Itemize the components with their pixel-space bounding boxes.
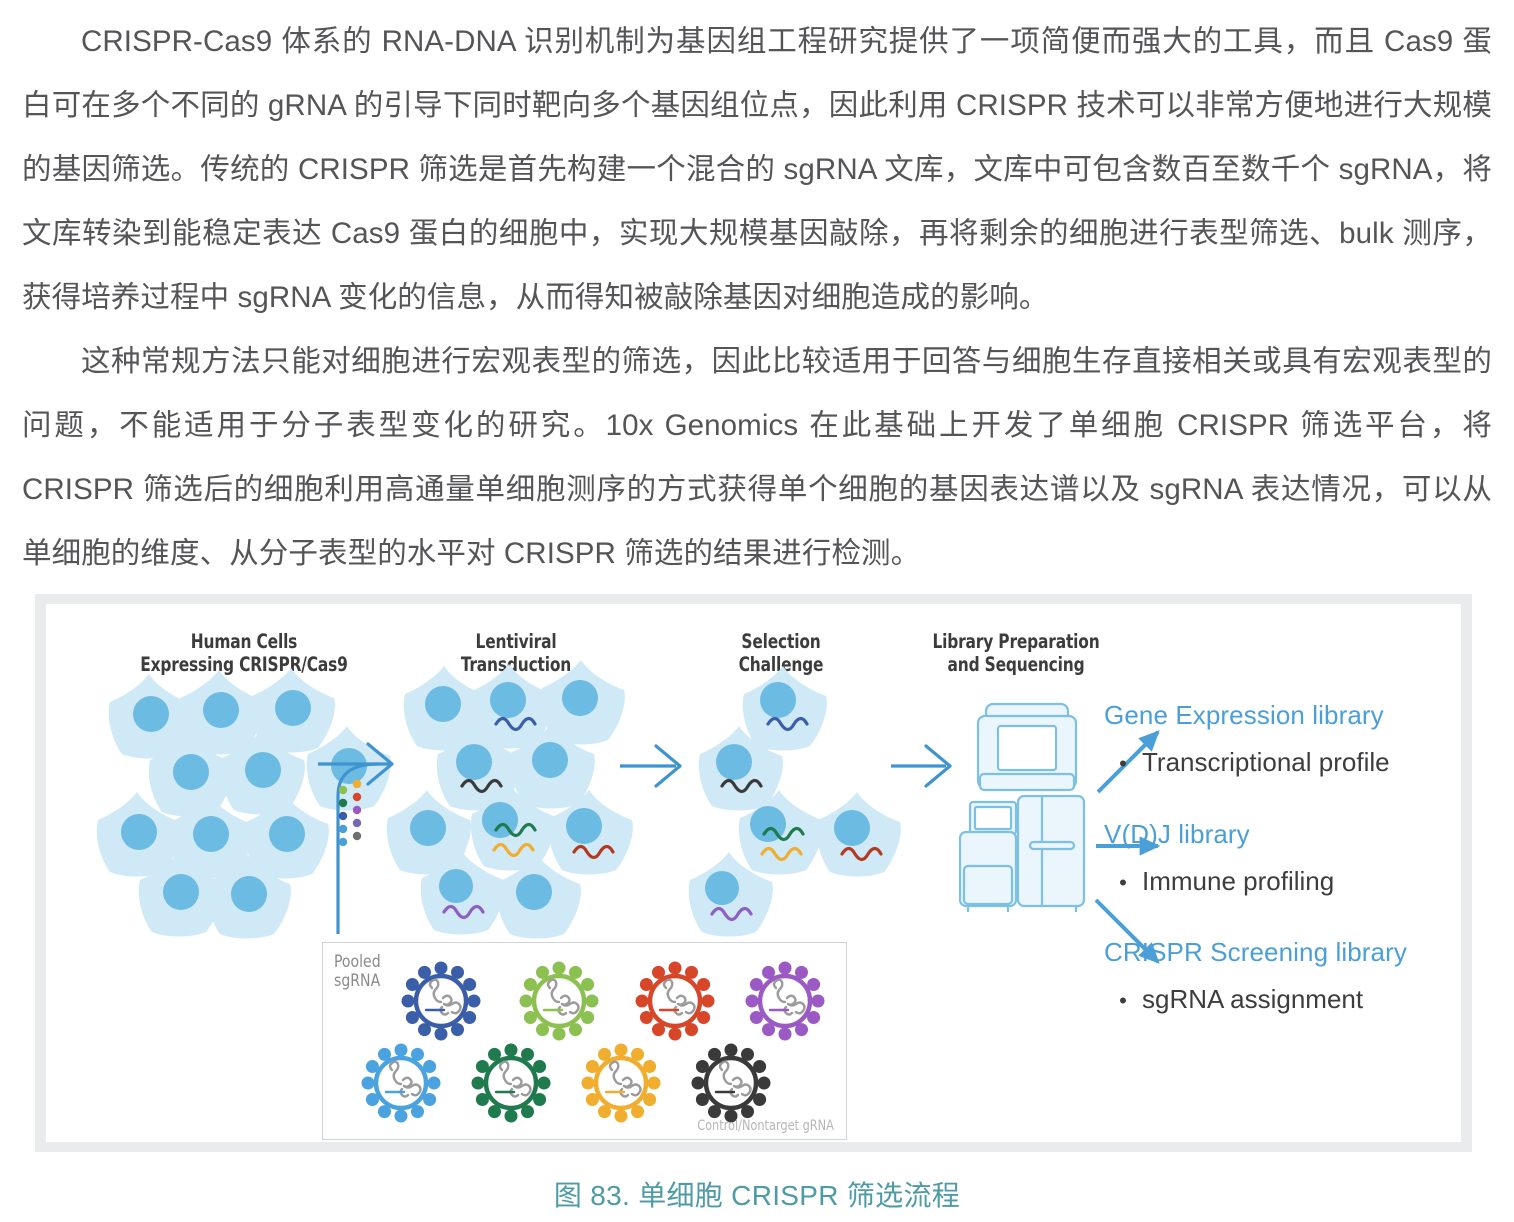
arrow-transduction (620, 746, 680, 786)
library-title-gene-expression: Gene Expression library (1104, 700, 1390, 731)
arrow-library-prep (891, 746, 950, 786)
library-sub-crispr-screening: sgRNA assignment (1142, 984, 1363, 1015)
library-bullet-row-crispr-screening: • sgRNA assignment (1104, 984, 1407, 1015)
library-title-crispr-screening: CRISPR Screening library (1104, 937, 1407, 968)
cell-group-lentiviral (387, 660, 633, 939)
virion-grid (323, 943, 848, 1141)
article-body: CRISPR-Cas9 体系的 RNA-DNA 识别机制为基因组工程研究提供了一… (22, 0, 1492, 586)
stage-title-selection-challenge: Selection Challenge (680, 630, 882, 676)
library-sub-gene-expression: Transcriptional profile (1142, 747, 1390, 778)
bullet-icon: • (1104, 753, 1142, 775)
sequencer-icon (960, 796, 1084, 912)
pooled-sgrna-panel: Pooled sgRNA Control/Nontarget gRNA (322, 942, 847, 1140)
chromium-controller-icon (978, 704, 1076, 790)
library-bullet-row-vdj: • Immune profiling (1104, 866, 1334, 897)
library-bullet-row-gene-expression: • Transcriptional profile (1104, 747, 1390, 778)
cell-group-selection (689, 666, 901, 937)
cell-group-human-cells (97, 668, 391, 939)
library-block-vdj: V(D)J library • Immune profiling (1104, 819, 1334, 897)
pooled-sgrna-label: Pooled sgRNA (334, 953, 381, 991)
stage-title-lentiviral: Lentiviral Transduction (406, 630, 626, 676)
library-block-gene-expression: Gene Expression library • Transcriptiona… (1104, 700, 1390, 778)
virion-row-2 (362, 1044, 771, 1123)
paragraph-1: CRISPR-Cas9 体系的 RNA-DNA 识别机制为基因组工程研究提供了一… (22, 0, 1492, 330)
library-block-crispr-screening: CRISPR Screening library • sgRNA assignm… (1104, 937, 1407, 1015)
virion-row-1 (402, 962, 825, 1041)
bullet-icon: • (1104, 990, 1142, 1012)
paragraph-2: 这种常规方法只能对细胞进行宏观表型的筛选，因此比较适用于回答与细胞生存直接相关或… (22, 330, 1492, 586)
stage-title-human-cells: Human Cells Expressing CRISPR/Cas9 (103, 630, 385, 676)
library-sub-vdj: Immune profiling (1142, 866, 1334, 897)
library-title-vdj: V(D)J library (1104, 819, 1334, 850)
bullet-icon: • (1104, 872, 1142, 894)
figure-caption: 图 83. 单细胞 CRISPR 筛选流程 (0, 1174, 1514, 1214)
pooled-sgrna-arrow (318, 744, 392, 934)
control-nontarget-label: Control/Nontarget gRNA (697, 1118, 834, 1134)
stage-title-library-prep: Library Preparation and Sequencing (884, 630, 1148, 676)
document-page: CRISPR-Cas9 体系的 RNA-DNA 识别机制为基因组工程研究提供了一… (0, 0, 1514, 1222)
